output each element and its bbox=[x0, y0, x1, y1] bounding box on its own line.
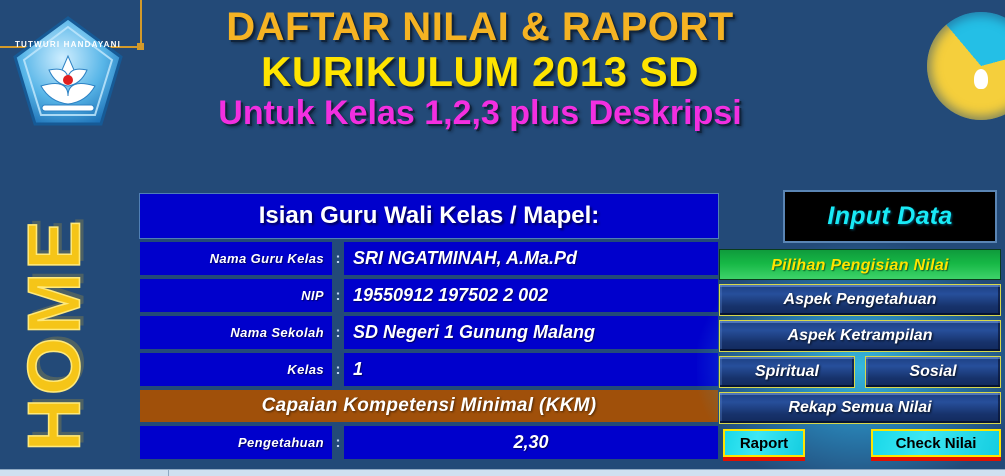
field-separator: : bbox=[332, 279, 344, 312]
rekap-semua-nilai-button[interactable]: Rekap Semua Nilai bbox=[719, 392, 1001, 424]
svg-text:TUTWURI HANDAYANI: TUTWURI HANDAYANI bbox=[15, 40, 121, 49]
title-line-1: DAFTAR NILAI & RAPORT bbox=[140, 6, 820, 48]
input-data-header: Input Data bbox=[783, 190, 997, 243]
field-separator: : bbox=[332, 426, 344, 459]
spiritual-button[interactable]: Spiritual bbox=[719, 356, 855, 388]
field-value-pengetahuan[interactable]: 2,30 bbox=[344, 426, 718, 459]
kkm-section-title: Capaian Kompetensi Minimal (KKM) bbox=[140, 390, 718, 422]
raport-button[interactable]: Raport bbox=[723, 429, 805, 457]
input-data-panel: Input Data Pilihan Pengisian Nilai Aspek… bbox=[715, 190, 1005, 476]
form-row: Nama Sekolah : SD Negeri 1 Gunung Malang bbox=[140, 316, 718, 349]
title-line-3: Untuk Kelas 1,2,3 plus Deskripsi bbox=[140, 96, 820, 132]
form-row: Nama Guru Kelas : SRI NGATMINAH, A.Ma.Pd bbox=[140, 242, 718, 275]
field-separator: : bbox=[332, 353, 344, 386]
form-row: NIP : 19550912 197502 2 002 bbox=[140, 279, 718, 312]
field-value-nama-sekolah[interactable]: SD Negeri 1 Gunung Malang bbox=[344, 316, 718, 349]
aspek-ketrampilan-button[interactable]: Aspek Ketrampilan bbox=[719, 320, 1001, 352]
sosial-button[interactable]: Sosial bbox=[865, 356, 1001, 388]
home-nav[interactable]: HOME bbox=[0, 182, 121, 472]
field-label: Nama Guru Kelas bbox=[140, 242, 332, 275]
home-label[interactable]: HOME bbox=[12, 210, 97, 460]
field-separator: : bbox=[332, 242, 344, 275]
section-title-pilihan-pengisian-nilai: Pilihan Pengisian Nilai bbox=[719, 249, 1001, 280]
field-label: Pengetahuan bbox=[140, 426, 332, 459]
title-line-2: KURIKULUM 2013 SD bbox=[140, 50, 820, 94]
circular-logo bbox=[927, 12, 1005, 120]
form-row: Kelas : 1 bbox=[140, 353, 718, 386]
field-separator: : bbox=[332, 316, 344, 349]
field-value-nama-guru-kelas[interactable]: SRI NGATMINAH, A.Ma.Pd bbox=[344, 242, 718, 275]
check-nilai-button[interactable]: Check Nilai bbox=[871, 429, 1001, 457]
input-data-title: Input Data bbox=[827, 202, 952, 231]
score-entry-panel: Pilihan Pengisian Nilai Aspek Pengetahua… bbox=[719, 249, 1001, 457]
form-row: Pengetahuan : 2,30 bbox=[140, 426, 718, 459]
worksheet-bottom-edge bbox=[0, 469, 1005, 476]
form-title: Isian Guru Wali Kelas / Mapel: bbox=[140, 194, 718, 238]
teacher-form: Isian Guru Wali Kelas / Mapel: Nama Guru… bbox=[140, 194, 718, 459]
title-block: DAFTAR NILAI & RAPORT KURIKULUM 2013 SD … bbox=[140, 6, 820, 132]
sikap-button-row: Spiritual Sosial bbox=[719, 356, 1001, 388]
worksheet-canvas: TUTWURI HANDAYANI DAFTAR NILAI & RAPORT … bbox=[0, 0, 1005, 476]
field-value-kelas[interactable]: 1 bbox=[344, 353, 718, 386]
field-label: Kelas bbox=[140, 353, 332, 386]
field-value-nip[interactable]: 19550912 197502 2 002 bbox=[344, 279, 718, 312]
tutwuri-handayani-logo: TUTWURI HANDAYANI bbox=[8, 14, 128, 132]
field-label: Nama Sekolah bbox=[140, 316, 332, 349]
aspek-pengetahuan-button[interactable]: Aspek Pengetahuan bbox=[719, 284, 1001, 316]
action-button-row: Raport Check Nilai bbox=[719, 429, 1001, 457]
field-label: NIP bbox=[140, 279, 332, 312]
